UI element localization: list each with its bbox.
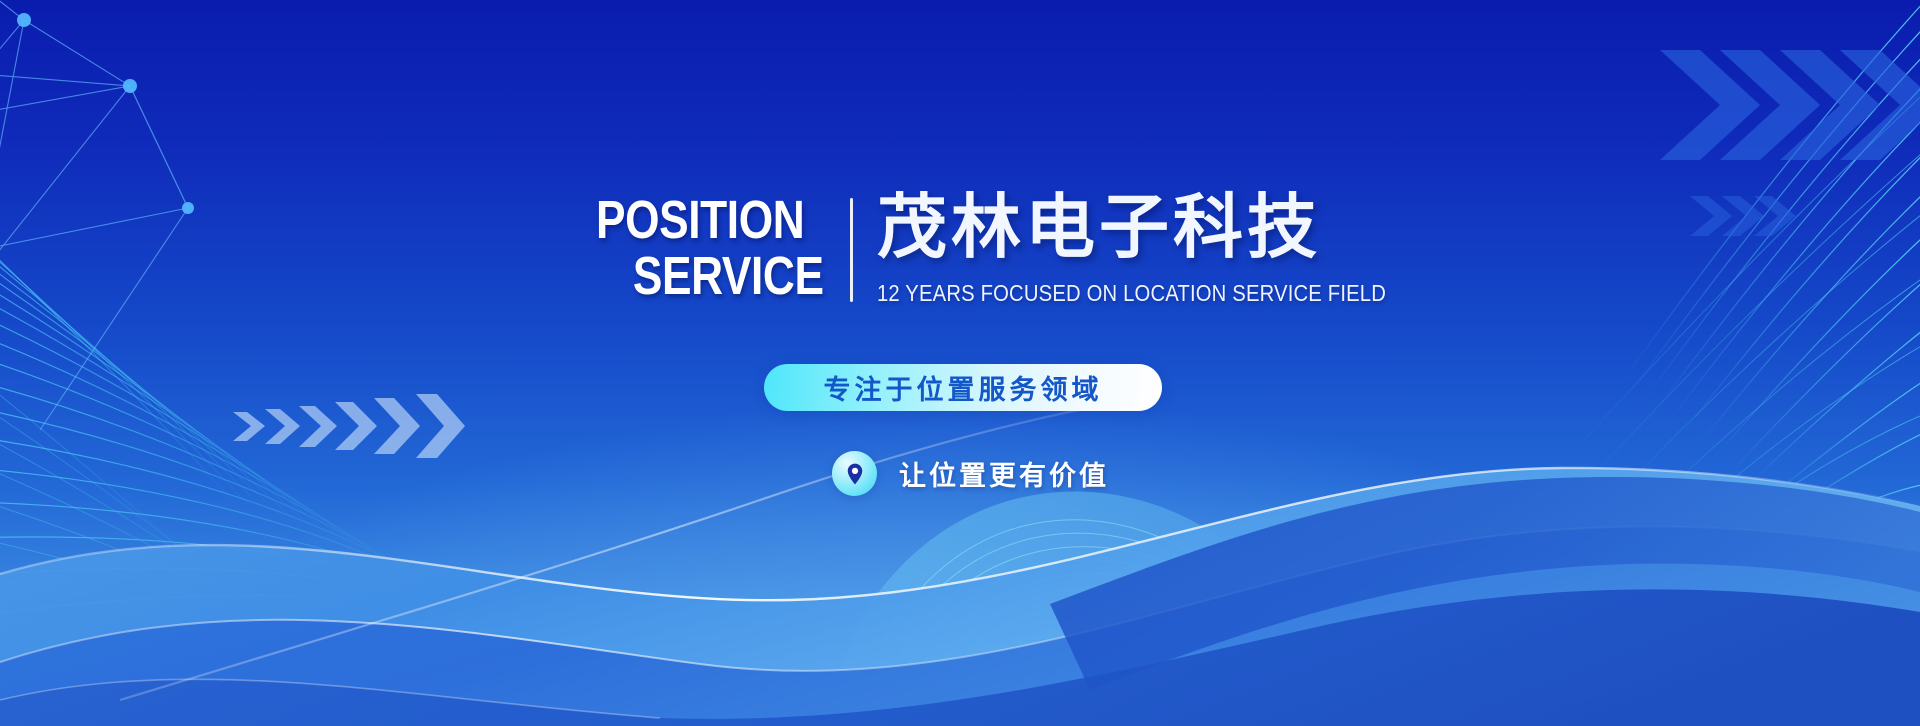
headline-english-line-1: POSITION bbox=[596, 192, 783, 248]
headline-english-line-2: SERVICE bbox=[633, 248, 824, 304]
headline-block: POSITION SERVICE 茂林电子科技 12 YEARS FOCUSED… bbox=[596, 186, 1455, 307]
location-pin-icon bbox=[832, 451, 877, 496]
focus-pill-label: 专注于位置服务领域 bbox=[824, 368, 1103, 407]
company-name-cn: 茂林电子科技 bbox=[877, 186, 1455, 268]
tagline-block: 让位置更有价值 bbox=[832, 451, 1109, 496]
chinese-headline-stack: 茂林电子科技 12 YEARS FOCUSED ON LOCATION SERV… bbox=[877, 186, 1455, 307]
hero-banner: POSITION SERVICE 茂林电子科技 12 YEARS FOCUSED… bbox=[0, 0, 1920, 726]
english-headline-stack: POSITION SERVICE bbox=[596, 186, 824, 304]
headline-divider bbox=[850, 198, 853, 302]
tagline-label: 让位置更有价值 bbox=[899, 454, 1109, 493]
headline-subtitle-en: 12 YEARS FOCUSED ON LOCATION SERVICE FIE… bbox=[877, 280, 1386, 307]
focus-pill-badge: 专注于位置服务领域 bbox=[764, 364, 1162, 411]
